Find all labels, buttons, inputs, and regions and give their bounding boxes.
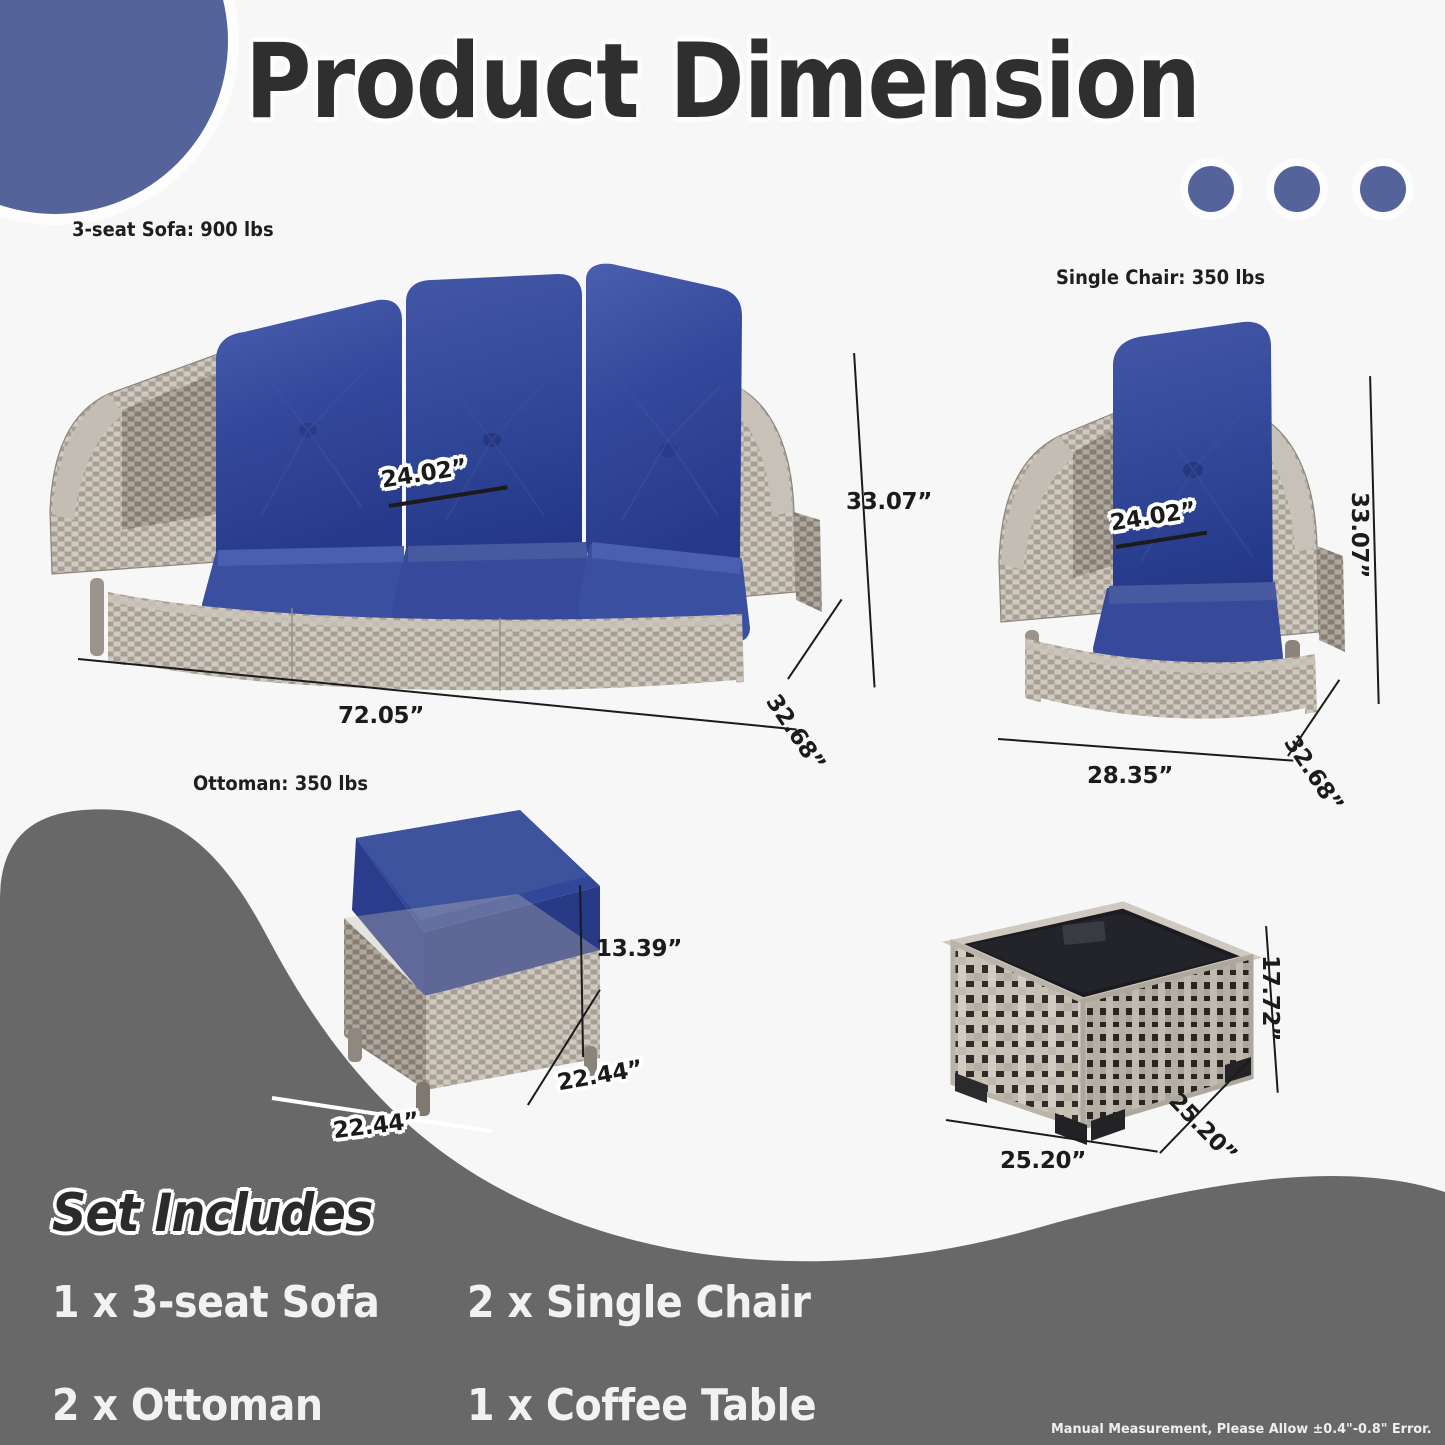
chair-width-label: 28.35” bbox=[1087, 763, 1173, 789]
sofa-caption: 3-seat Sofa: 900 lbs bbox=[72, 218, 274, 241]
page-title: Product Dimension bbox=[87, 22, 1359, 142]
chair-caption: Single Chair: 350 lbs bbox=[1056, 266, 1265, 289]
decorative-dot bbox=[1188, 166, 1234, 212]
sofa-height-label: 33.07” bbox=[846, 489, 932, 515]
dot-decoration-group bbox=[1188, 166, 1406, 212]
set-includes-item: 1 x 3-seat Sofa bbox=[52, 1277, 426, 1328]
ottoman-height-label: 13.39” bbox=[596, 936, 682, 962]
set-includes-item: 2 x Single Chair bbox=[467, 1277, 841, 1328]
set-includes-title: Set Includes bbox=[52, 1183, 372, 1244]
decorative-dot bbox=[1274, 166, 1320, 212]
set-includes-item: 2 x Ottoman bbox=[52, 1380, 426, 1431]
ottoman-illustration bbox=[248, 790, 608, 1130]
set-includes-list: 1 x 3-seat Sofa 2 x Single Chair 2 x Ott… bbox=[52, 1277, 912, 1431]
infographic-page: Product Dimension 3-seat Sofa: 900 lbs bbox=[0, 0, 1445, 1445]
set-includes-item: 1 x Coffee Table bbox=[467, 1380, 841, 1431]
coffee-table-width-label: 25.20” bbox=[1000, 1148, 1086, 1174]
chair-width-line bbox=[998, 738, 1293, 762]
measurement-disclaimer: Manual Measurement, Please Allow ±0.4"-0… bbox=[1051, 1421, 1431, 1437]
coffee-table-height-label: 17.72” bbox=[1257, 955, 1283, 1041]
decorative-dot bbox=[1360, 166, 1406, 212]
sofa-height-line bbox=[853, 353, 876, 688]
chair-height-label: 33.07” bbox=[1346, 492, 1372, 578]
sofa-width-label: 72.05” bbox=[338, 703, 424, 729]
